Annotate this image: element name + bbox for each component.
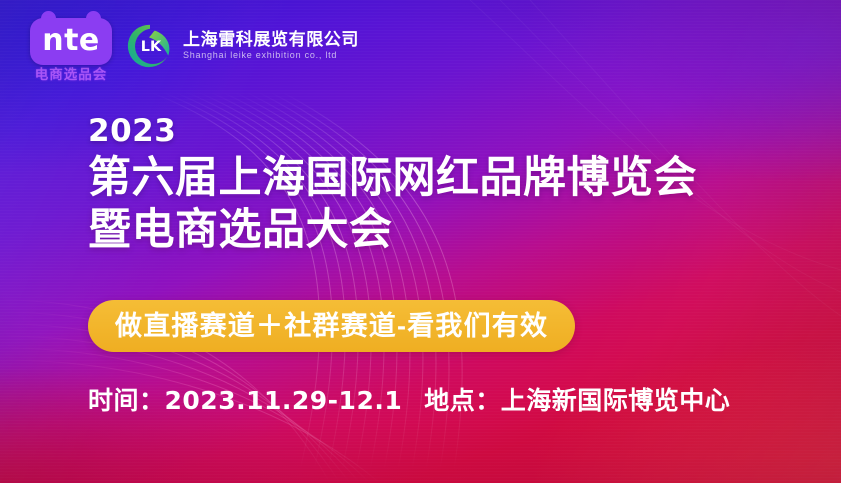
venue-value: 上海新国际博览中心 [501,389,731,414]
nte-logo: nte 电商选品会 [30,18,112,82]
headline-block: 2023 第六届上海国际网红品牌博览会 暨电商选品大会 [88,116,697,253]
event-info-row: 时间： 2023.11.29-12.1 地点： 上海新国际博览中心 [88,388,730,414]
expo-promo-banner: nte 电商选品会 [0,0,841,483]
headline-line-1: 第六届上海国际网红品牌博览会 [88,156,697,202]
leike-company-logo: LK 上海雷科展览有限公司 Shanghai leike exhibition … [126,18,359,70]
venue-label: 地点： [424,389,501,414]
headline-year: 2023 [88,116,697,147]
header-logo-row: nte 电商选品会 [30,18,359,82]
nte-logo-subtitle: 电商选品会 [35,68,108,82]
date-label: 时间： [88,389,165,414]
uk-swoosh-icon: LK [126,22,174,70]
leike-company-name-cn: 上海雷科展览有限公司 [183,31,359,50]
nte-cat-badge-icon: nte [30,18,112,65]
headline-line-2: 暨电商选品大会 [88,208,697,254]
tagline-text: 做直播赛道＋社群赛道-看我们有效 [115,313,548,340]
svg-text:LK: LK [141,39,162,55]
tagline-pill: 做直播赛道＋社群赛道-看我们有效 [88,300,575,352]
date-value: 2023.11.29-12.1 [165,388,403,413]
nte-wordmark: nte [42,26,100,57]
leike-company-name-en: Shanghai leike exhibition co., ltd [183,51,359,61]
